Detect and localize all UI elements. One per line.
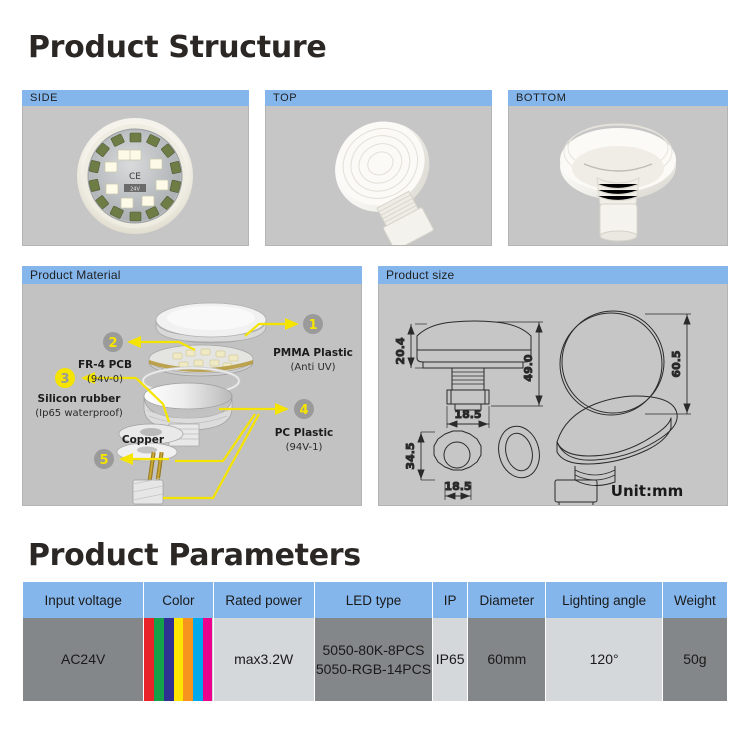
panel-bottom-image (508, 106, 728, 246)
panel-side-header: SIDE (22, 90, 249, 106)
color-swatch-2 (154, 618, 164, 701)
callout-2-spec: (94v-0) (87, 374, 123, 385)
panel-top-image (265, 106, 492, 246)
col-header-weight: Weight (663, 582, 727, 618)
dimension-18-5-side: 18.5 (454, 408, 481, 421)
color-stripe-group (144, 618, 212, 701)
panel-side-image: CE 24V (22, 106, 249, 246)
cell-led-type: 5050-80K-8PCS 5050-RGB-14PCS (315, 618, 432, 701)
callout-3-name: Silicon rubber (38, 393, 122, 405)
ce-mark: CE (129, 172, 141, 182)
color-swatch-7 (203, 618, 213, 701)
part-gland-nut (133, 478, 163, 504)
col-header-input-voltage: Input voltage (23, 582, 143, 618)
callout-4-number: 4 (299, 403, 308, 418)
panel-material-header: Product Material (22, 266, 362, 284)
part-lens-pmma (156, 303, 266, 343)
technical-drawing: 20.4 49.0 18.5 (379, 284, 727, 506)
cell-ip: IP65 (433, 618, 467, 701)
svg-text:24V: 24V (130, 187, 140, 193)
lamp-top-view-photo (266, 106, 491, 246)
lamp-bottom-view-photo (509, 106, 727, 246)
col-header-color: Color (144, 582, 212, 618)
cell-diameter: 60mm (468, 618, 545, 701)
dimension-18-5-bottom: 18.5 (444, 480, 471, 493)
unit-note: Unit:mm (611, 482, 683, 500)
callout-3-number: 3 (60, 372, 69, 387)
color-swatch-5 (183, 618, 193, 701)
color-swatch-6 (193, 618, 203, 701)
cell-rated-power: max3.2W (214, 618, 314, 701)
panel-side: SIDE (22, 90, 249, 246)
panel-top: TOP (265, 90, 492, 246)
callout-1-spec: (Anti UV) (290, 362, 335, 373)
cell-weight: 50g (663, 618, 727, 701)
table-header-row: Input voltage Color Rated power LED type… (23, 582, 727, 618)
panel-product-material: Product Material (22, 266, 362, 506)
color-swatch-1 (144, 618, 154, 701)
panel-product-size: Product size (378, 266, 728, 506)
table-row: AC24V max3.2W 5050-80K-8PCS 5050-RGB-14P… (23, 618, 727, 701)
callout-5-name: Copper (122, 434, 165, 446)
parameters-table: Input voltage Color Rated power LED type… (22, 582, 728, 701)
callout-2-number: 2 (108, 336, 117, 351)
page-title-product-structure: Product Structure (28, 30, 326, 65)
callout-2-name: FR-4 PCB (78, 359, 132, 371)
callout-1-name: PMMA Plastic (273, 347, 353, 359)
panel-bottom-header: BOTTOM (508, 90, 728, 106)
panel-material-diagram: 1 PMMA Plastic (Anti UV) 2 FR-4 PCB (94v… (22, 284, 362, 506)
product-spec-sheet: Product Structure SIDE (0, 0, 750, 750)
cell-lighting-angle: 120° (546, 618, 661, 701)
panel-top-header: TOP (265, 90, 492, 106)
exploded-assembly-diagram: 1 PMMA Plastic (Anti UV) 2 FR-4 PCB (94v… (23, 284, 361, 506)
led-type-line-2: 5050-RGB-14PCS (315, 660, 432, 679)
cell-input-voltage: AC24V (23, 618, 143, 701)
col-header-lighting-angle: Lighting angle (546, 582, 661, 618)
led-type-line-1: 5050-80K-8PCS (315, 641, 432, 660)
dimension-34-5: 34.5 (404, 442, 417, 469)
callout-5-number: 5 (99, 453, 108, 468)
col-header-led-type: LED type (315, 582, 432, 618)
panel-size-header: Product size (378, 266, 728, 284)
col-header-ip: IP (433, 582, 467, 618)
page-title-product-parameters: Product Parameters (28, 538, 361, 573)
color-swatch-4 (174, 618, 184, 701)
color-swatch-3 (164, 618, 174, 701)
led-pcb-front-photo: CE 24V (23, 106, 248, 246)
panel-size-diagram: 20.4 49.0 18.5 (378, 284, 728, 506)
dimension-20-4: 20.4 (394, 337, 407, 364)
callout-4-name: PC Plastic (275, 427, 334, 439)
col-header-rated-power: Rated power (214, 582, 314, 618)
cell-color-swatches (144, 618, 212, 701)
callout-3-spec: (Ip65 waterproof) (35, 408, 123, 419)
dimension-60-5: 60.5 (670, 350, 683, 377)
col-header-diameter: Diameter (468, 582, 545, 618)
panel-bottom: BOTTOM (508, 90, 728, 246)
dimension-49-0: 49.0 (522, 354, 535, 381)
callout-4-spec: (94V-1) (286, 442, 323, 453)
callout-1-number: 1 (308, 318, 317, 333)
